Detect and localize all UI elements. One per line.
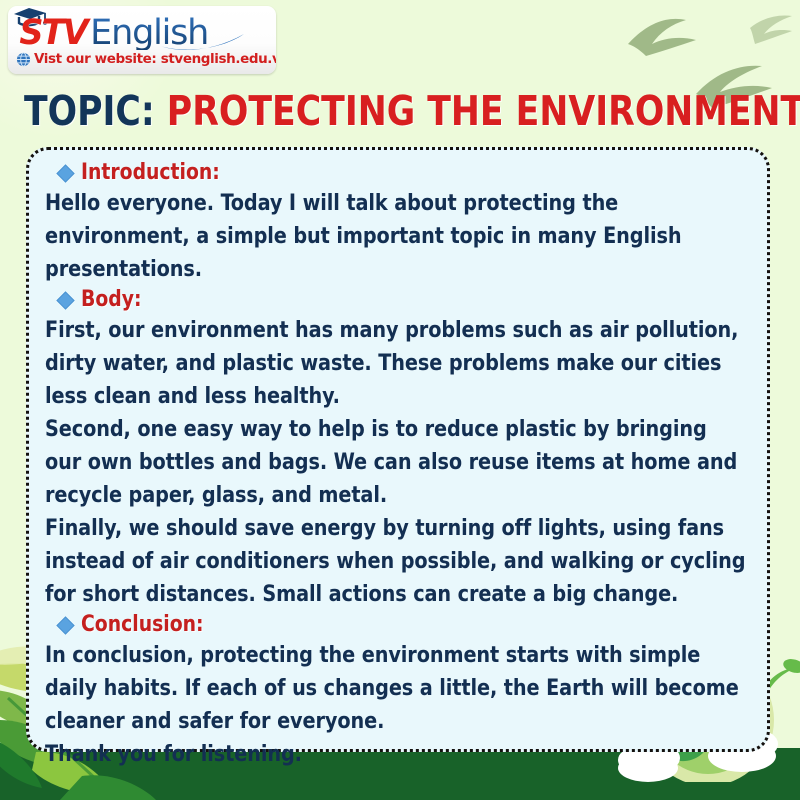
logo-swoosh-icon [158,32,248,52]
section-label: Introduction: [81,161,220,185]
blue-diamond-bullet-icon [56,164,74,182]
poster-canvas: STV English Vist our website: stvenglish… [0,0,800,800]
title-prefix: TOPIC: [24,87,155,135]
section-label: Conclusion: [81,613,204,637]
title-subject: PROTECTING THE ENVIRONMENT [167,87,800,135]
brand-logo[interactable]: STV English Vist our website: stvenglish… [8,6,276,74]
content-card: Introduction: Hello everyone. Today I wi… [26,147,770,752]
logo-stv-text: STV [19,16,86,50]
paragraph-body-2: Second, one easy way to help is to reduc… [45,413,749,512]
blue-diamond-bullet-icon [56,616,74,634]
blue-diamond-bullet-icon [56,291,74,309]
paragraph-body-3: Finally, we should save energy by turnin… [45,512,749,611]
paragraph-conclusion-1: In conclusion, protecting the environmen… [45,639,749,738]
page-title: TOPIC: PROTECTING THE ENVIRONMENT [24,88,776,135]
section-heading-body: Body: [59,286,749,314]
globe-icon [16,52,31,67]
section-heading-introduction: Introduction: [59,159,749,187]
paragraph-intro-1: Hello everyone. Today I will talk about … [45,187,749,286]
paragraph-body-1: First, our environment has many problems… [45,314,749,413]
section-heading-conclusion: Conclusion: [59,611,749,639]
logo-website-text: Vist our website: stvenglish.edu.vn [34,51,276,67]
section-label: Body: [81,288,141,312]
paragraph-conclusion-2: Thank you for listening. [45,738,749,771]
logo-website-line[interactable]: Vist our website: stvenglish.edu.vn [16,51,276,67]
